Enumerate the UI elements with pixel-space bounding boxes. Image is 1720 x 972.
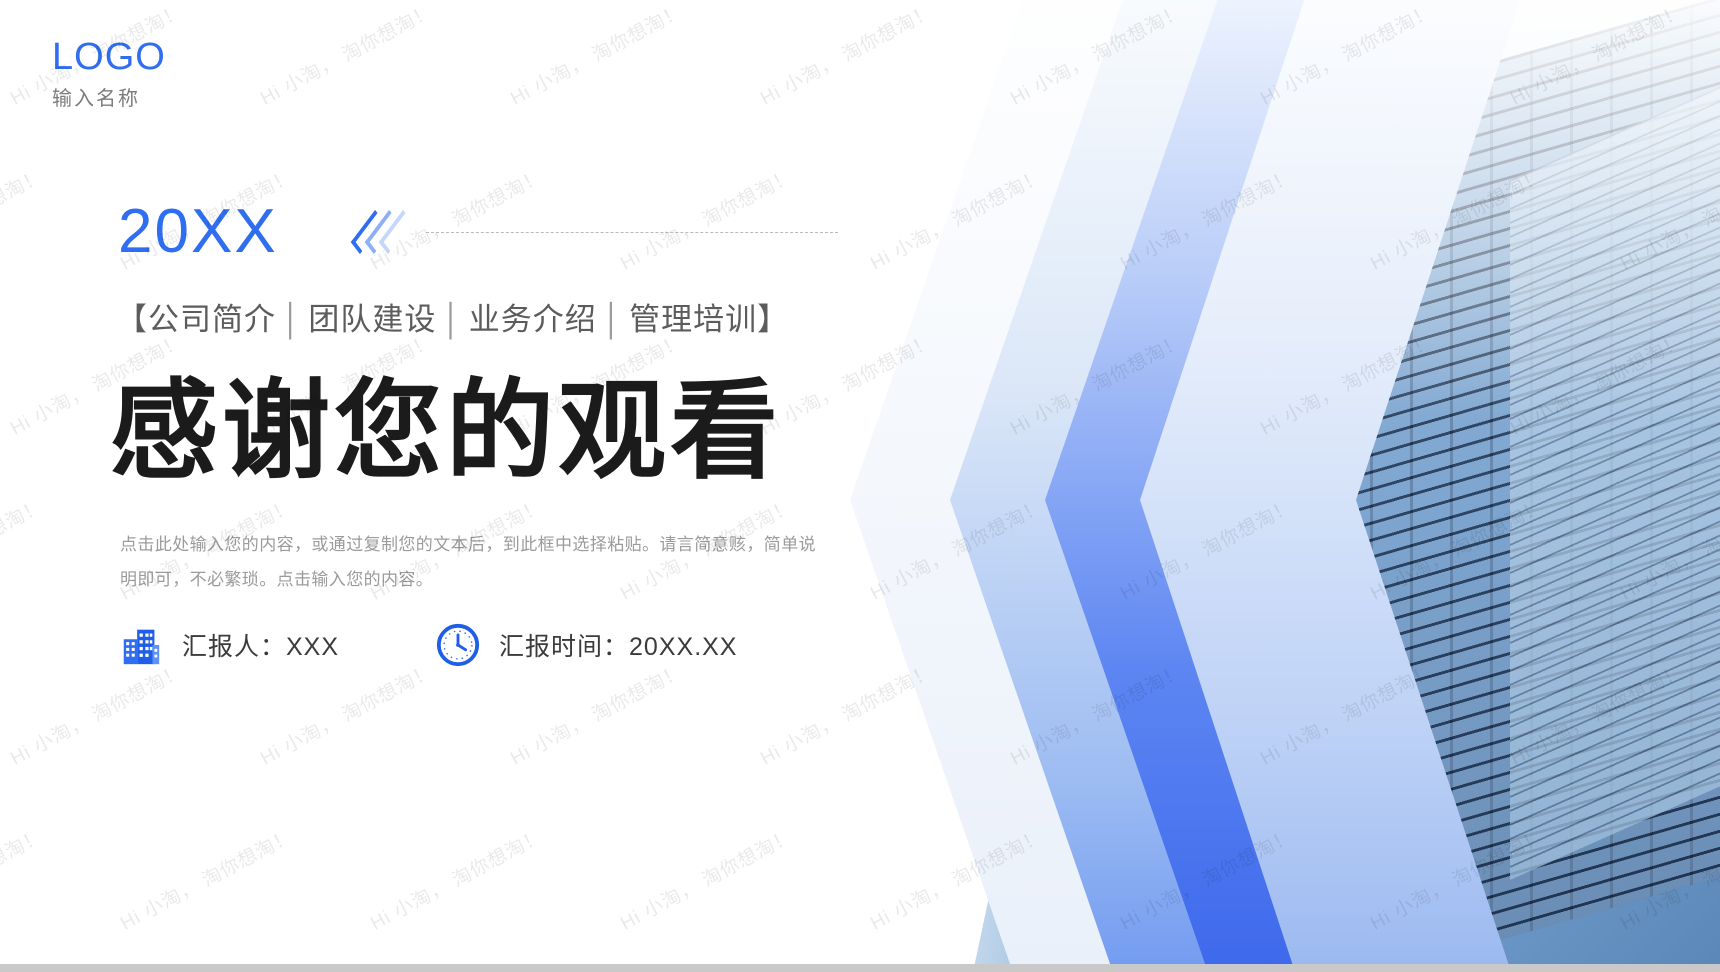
presenter-label: 汇报人：XXX (182, 627, 339, 663)
kicker-sep-2: │ (597, 302, 629, 337)
dashed-divider (426, 232, 838, 233)
report-time-item: 汇报时间：20XX.XX (435, 622, 737, 668)
logo-subtitle: 输入名称 (52, 82, 166, 111)
topic-list: 【公司简介│团队建设│业务介绍│管理培训】 (116, 294, 789, 339)
office-building-icon (118, 622, 164, 668)
page-title: 感谢您的观看 (110, 372, 782, 491)
presentation-slide: LOGO 输入名称 20XX 【公司简介│团队建设│业务介绍│管理培训】 感谢您… (0, 0, 1720, 972)
year-label: 20XX (118, 201, 278, 263)
kicker-item-1: 团队建设 (308, 302, 436, 337)
kicker-sep-1: │ (436, 302, 468, 337)
clock-icon (435, 622, 481, 668)
logo-title: LOGO (52, 38, 166, 78)
double-chevron-left-icon (360, 212, 402, 252)
meta-row: 汇报人：XXX 汇报时间：20XX.XX (118, 622, 833, 668)
kicker-item-2: 业务介绍 (469, 302, 597, 337)
report-time-label: 汇报时间：20XX.XX (499, 627, 737, 663)
right-artwork (820, 0, 1720, 972)
kicker-open-bracket: 【 (116, 302, 148, 337)
presenter-item: 汇报人：XXX (118, 622, 339, 668)
kicker-close-bracket: 】 (757, 302, 789, 337)
year-row: 20XX (118, 196, 838, 268)
bottom-bar (0, 964, 1720, 972)
kicker-sep-0: │ (276, 302, 308, 337)
logo-block[interactable]: LOGO 输入名称 (52, 38, 166, 111)
kicker-item-0: 公司简介 (148, 302, 276, 337)
body-paragraph: 点击此处输入您的内容，或通过复制您的文本后，到此框中选择粘贴。请言简意赅，简单说… (120, 528, 820, 598)
kicker-item-3: 管理培训 (629, 302, 757, 337)
slide-content: LOGO 输入名称 20XX 【公司简介│团队建设│业务介绍│管理培训】 感谢您… (0, 0, 900, 972)
